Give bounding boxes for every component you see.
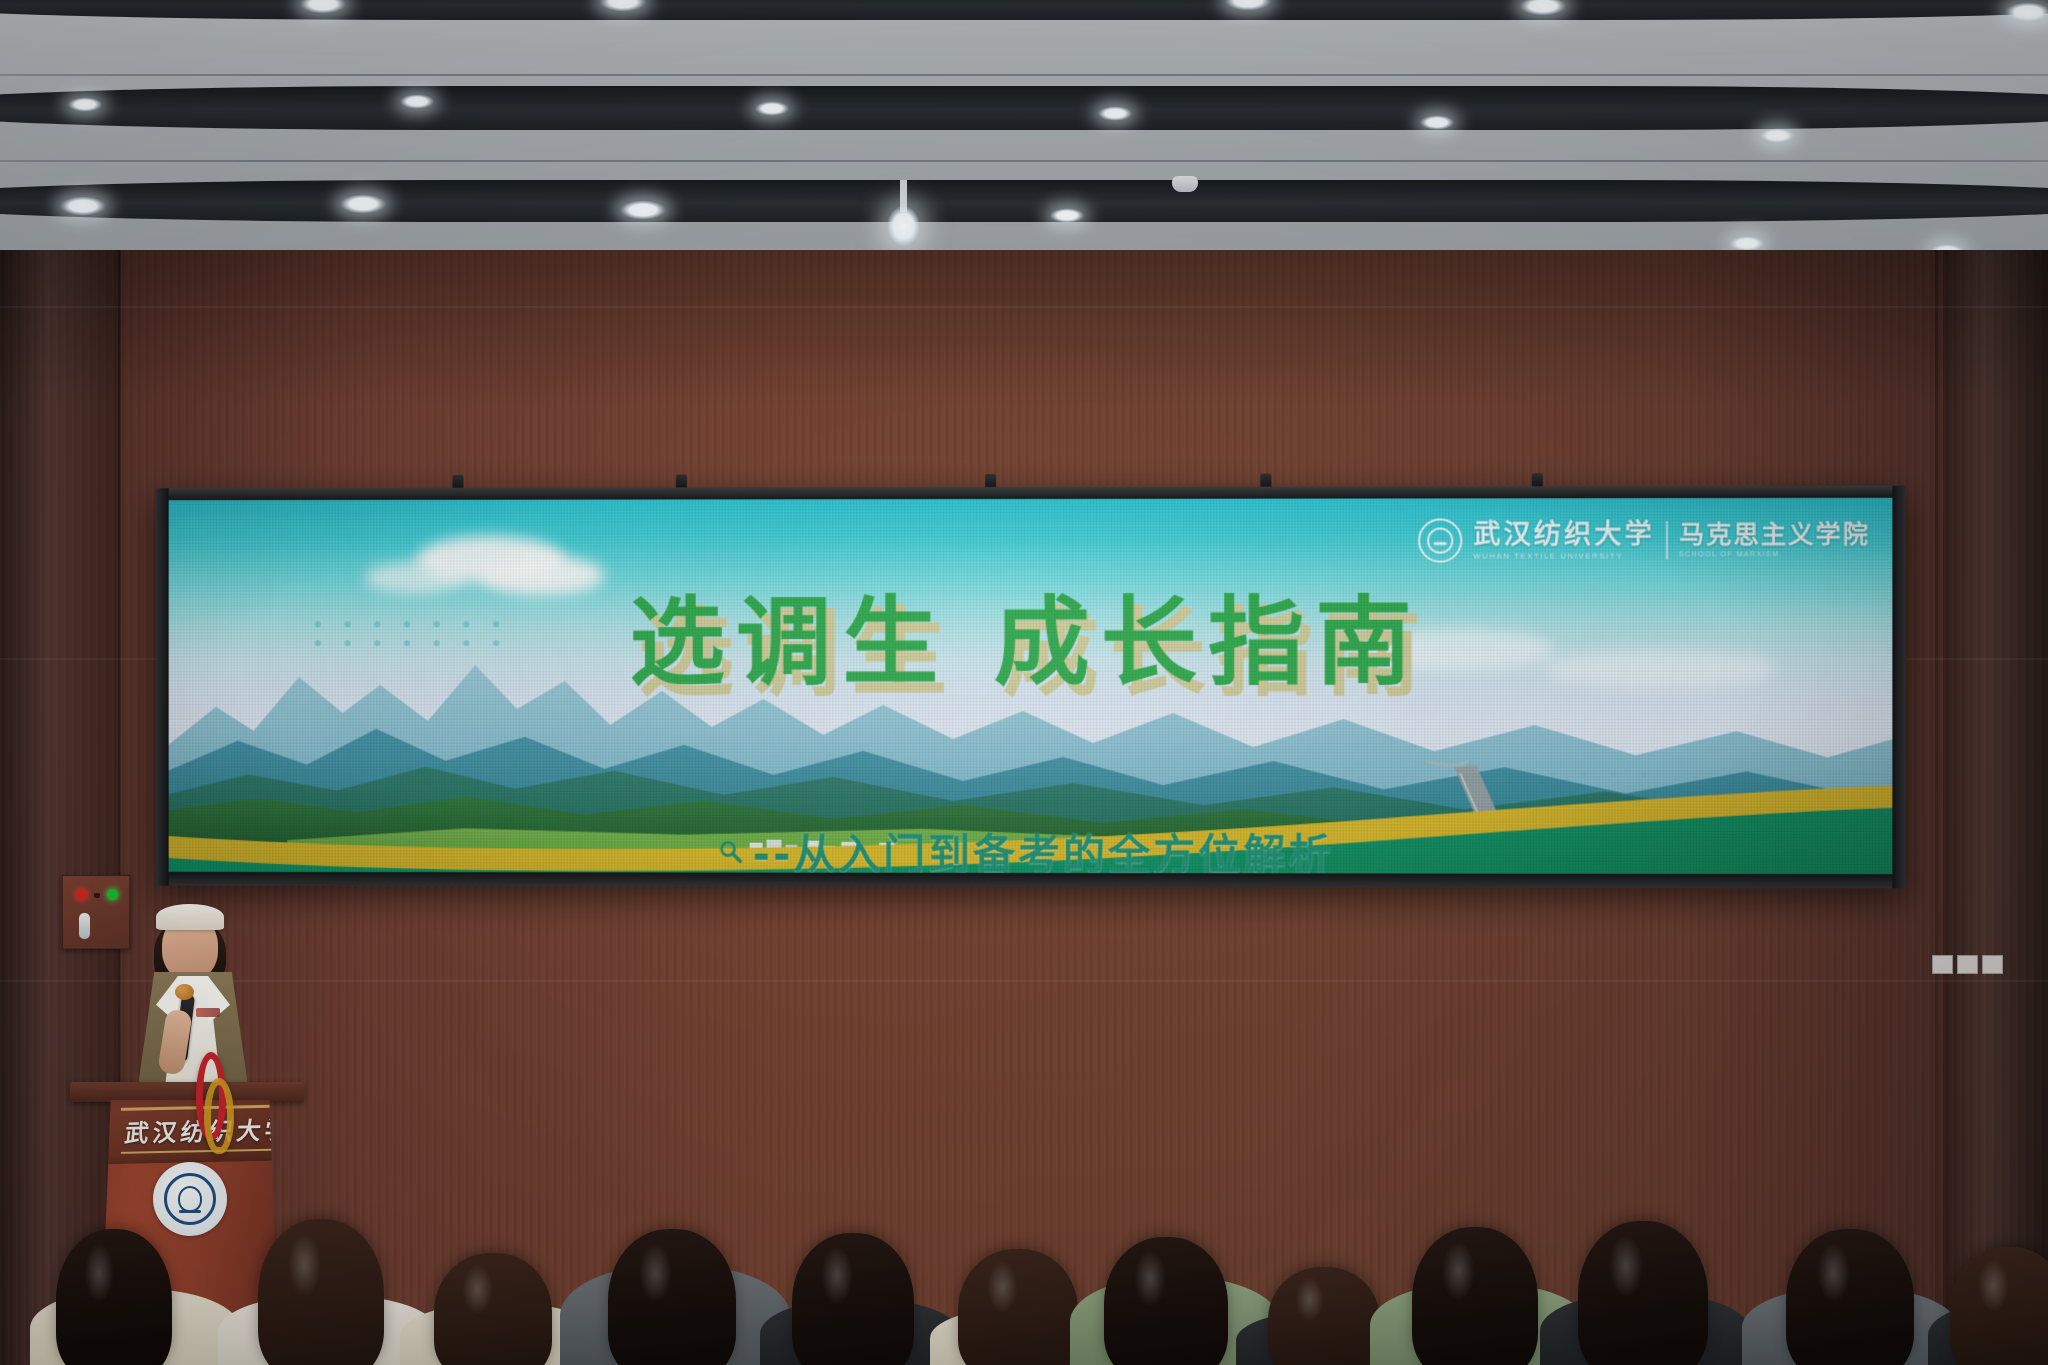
audience-head [958, 1249, 1078, 1365]
audience-head [792, 1233, 914, 1365]
slide-title-area: 选调生 成长指南 [169, 593, 1893, 690]
light-switch-plate-icon[interactable] [1932, 955, 2003, 974]
smoke-detector-icon [1172, 176, 1198, 192]
university-name-en: WUHAN TEXTILE UNIVERSITY [1473, 551, 1654, 560]
presentation-hall-photo: 武汉纺织大学 WUHAN TEXTILE UNIVERSITY 马克思主义学院 … [0, 0, 2048, 1365]
college-name-en: SCHOOL OF MARXISM [1679, 551, 1870, 558]
audience [0, 1165, 2048, 1365]
ceiling-downlight [1420, 115, 1454, 130]
light-switch[interactable] [1982, 955, 2003, 974]
audience-head [258, 1219, 384, 1365]
audience-head [1268, 1267, 1380, 1365]
logo-divider [1666, 521, 1668, 559]
wall-control-panel-icon[interactable] [62, 875, 130, 949]
slide-title: 选调生 成长指南 [630, 594, 1423, 690]
presentation-slide: 武汉纺织大学 WUHAN TEXTILE UNIVERSITY 马克思主义学院 … [169, 498, 1893, 874]
college-name-cn: 马克思主义学院 [1679, 522, 1870, 548]
audience-head [1950, 1247, 2048, 1365]
panel-dot [94, 893, 100, 898]
ceiling-downlight [340, 194, 386, 214]
screen-bezel-right [1892, 486, 1905, 889]
audience-head [1786, 1229, 1914, 1365]
slide-subtitle-area: --从入门到备考的全方位解析 [169, 820, 1893, 874]
slide-logo: 武汉纺织大学 WUHAN TEXTILE UNIVERSITY 马克思主义学院 … [1418, 518, 1870, 563]
light-switch[interactable] [1932, 955, 1953, 974]
slide-subtitle: --从入门到备考的全方位解析 [753, 821, 1334, 874]
ceiling-downlight [1050, 208, 1084, 223]
ceiling-downlight [1730, 236, 1764, 251]
ceiling-downlight [2005, 2, 2048, 22]
podium-top-surface [70, 1082, 304, 1102]
ceiling-downlight [400, 94, 434, 109]
magnifier-icon [718, 838, 744, 864]
audience-head [1104, 1237, 1228, 1365]
status-led-green [107, 889, 118, 900]
screen-bezel-bottom [156, 872, 1906, 888]
audience-head [434, 1253, 552, 1365]
ceiling-downlight [68, 97, 102, 112]
screen-bezel-left [156, 488, 169, 885]
audience-head [1412, 1227, 1538, 1365]
university-name-cn: 武汉纺织大学 [1473, 520, 1654, 548]
ceiling-downlight [755, 101, 789, 116]
ceiling-downlight [60, 196, 106, 216]
speaker-badge [196, 1008, 220, 1017]
led-display-screen[interactable]: 武汉纺织大学 WUHAN TEXTILE UNIVERSITY 马克思主义学院 … [156, 486, 1906, 889]
audience-head [608, 1229, 736, 1365]
panel-toggle-switch[interactable] [79, 913, 90, 939]
ceiling [0, 0, 2048, 272]
audience-head [1578, 1221, 1708, 1365]
pendant-light [900, 180, 907, 212]
ceremonial-ribbon [204, 1078, 234, 1154]
ceiling-downlight [1098, 106, 1132, 121]
ceiling-downlight [1760, 128, 1794, 143]
light-switch[interactable] [1957, 955, 1978, 974]
university-seal-icon [1418, 518, 1462, 562]
microphone-head [175, 984, 194, 1000]
speaker-headband [156, 904, 224, 930]
ceiling-downlight [620, 200, 666, 220]
status-led-red [76, 889, 87, 900]
audience-head [56, 1229, 172, 1365]
speaker [134, 890, 252, 1100]
